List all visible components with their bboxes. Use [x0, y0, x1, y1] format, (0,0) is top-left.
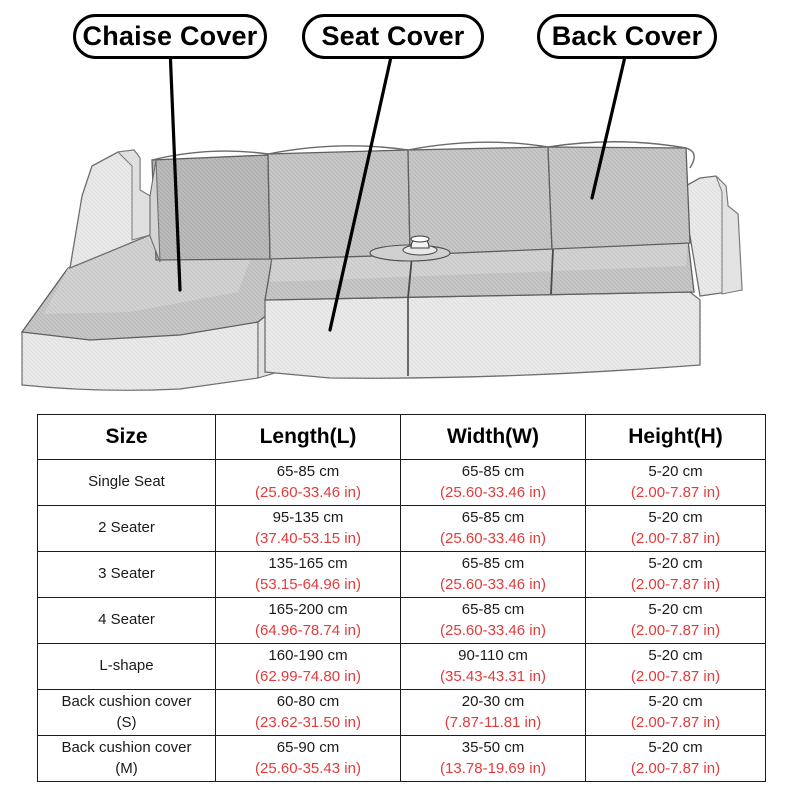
cell-height: 5-20 cm (2.00-7.87 in) — [586, 736, 766, 782]
value-cm: 65-85 cm — [216, 462, 400, 482]
cell-width: 35-50 cm (13.78-19.69 in) — [401, 736, 586, 782]
value-cm: 160-190 cm — [216, 646, 400, 666]
value-cm: 5-20 cm — [586, 646, 765, 666]
value-inch: (23.62-31.50 in) — [216, 713, 400, 733]
row-label-text: Single Seat — [88, 473, 165, 490]
row-label: 3 Seater — [38, 552, 216, 598]
value-inch: (2.00-7.87 in) — [586, 713, 765, 733]
value-cm: 5-20 cm — [586, 462, 765, 482]
size-chart: Size Length(L) Width(W) Height(H) Single… — [37, 414, 765, 782]
table-row: L-shape 160-190 cm (62.99-74.80 in) 90-1… — [38, 644, 766, 690]
value-inch: (37.40-53.15 in) — [216, 529, 400, 549]
size-table-body: Single Seat 65-85 cm (25.60-33.46 in) 65… — [38, 460, 766, 782]
value-inch: (25.60-33.46 in) — [401, 575, 585, 595]
sofa-base — [265, 292, 700, 378]
back-cushion-3 — [408, 147, 552, 255]
row-label-sub: (S) — [38, 713, 215, 733]
row-label: L-shape — [38, 644, 216, 690]
cell-height: 5-20 cm (2.00-7.87 in) — [586, 552, 766, 598]
row-label-text: L-shape — [99, 657, 153, 674]
table-row: Back cushion cover (M) 65-90 cm (25.60-3… — [38, 736, 766, 782]
table-row: 3 Seater 135-165 cm (53.15-64.96 in) 65-… — [38, 552, 766, 598]
size-table-head: Size Length(L) Width(W) Height(H) — [38, 415, 766, 460]
cell-width: 65-85 cm (25.60-33.46 in) — [401, 460, 586, 506]
value-cm: 95-135 cm — [216, 508, 400, 528]
row-label-text: 4 Seater — [98, 611, 155, 628]
row-label: Single Seat — [38, 460, 216, 506]
row-label: Back cushion cover (S) — [38, 690, 216, 736]
back-cushion-1 — [152, 155, 270, 260]
callout-back-cover-label: Back Cover — [552, 21, 703, 52]
table-row: Back cushion cover (S) 60-80 cm (23.62-3… — [38, 690, 766, 736]
cell-length: 95-135 cm (37.40-53.15 in) — [216, 506, 401, 552]
row-label: 2 Seater — [38, 506, 216, 552]
cell-length: 60-80 cm (23.62-31.50 in) — [216, 690, 401, 736]
value-inch: (2.00-7.87 in) — [586, 483, 765, 503]
cup-rim-icon — [411, 236, 429, 242]
table-row: Single Seat 65-85 cm (25.60-33.46 in) 65… — [38, 460, 766, 506]
value-cm: 5-20 cm — [586, 692, 765, 712]
cell-length: 165-200 cm (64.96-78.74 in) — [216, 598, 401, 644]
value-inch: (25.60-33.46 in) — [401, 483, 585, 503]
cell-width: 65-85 cm (25.60-33.46 in) — [401, 552, 586, 598]
value-inch: (13.78-19.69 in) — [401, 759, 585, 779]
callout-back-cover: Back Cover — [537, 14, 717, 59]
value-inch: (2.00-7.87 in) — [586, 529, 765, 549]
value-cm: 20-30 cm — [401, 692, 585, 712]
row-label-text: 3 Seater — [98, 565, 155, 582]
row-label-text: Back cushion cover — [61, 693, 191, 710]
value-cm: 65-85 cm — [401, 600, 585, 620]
value-cm: 60-80 cm — [216, 692, 400, 712]
value-inch: (53.15-64.96 in) — [216, 575, 400, 595]
value-cm: 35-50 cm — [401, 738, 585, 758]
column-header-size: Size — [38, 415, 216, 460]
cell-height: 5-20 cm (2.00-7.87 in) — [586, 460, 766, 506]
value-inch: (25.60-33.46 in) — [401, 529, 585, 549]
back-cushion-2 — [268, 150, 410, 259]
cell-width: 65-85 cm (25.60-33.46 in) — [401, 598, 586, 644]
sofa-illustration-svg — [0, 0, 800, 410]
row-label-text: 2 Seater — [98, 519, 155, 536]
row-label: 4 Seater — [38, 598, 216, 644]
cell-width: 90-110 cm (35.43-43.31 in) — [401, 644, 586, 690]
value-cm: 5-20 cm — [586, 738, 765, 758]
cell-height: 5-20 cm (2.00-7.87 in) — [586, 506, 766, 552]
row-label: Back cushion cover (M) — [38, 736, 216, 782]
value-cm: 5-20 cm — [586, 508, 765, 528]
value-inch: (2.00-7.87 in) — [586, 575, 765, 595]
value-cm: 65-90 cm — [216, 738, 400, 758]
value-inch: (2.00-7.87 in) — [586, 621, 765, 641]
callout-chaise-cover-label: Chaise Cover — [83, 21, 258, 52]
cell-length: 135-165 cm (53.15-64.96 in) — [216, 552, 401, 598]
value-inch: (2.00-7.87 in) — [586, 759, 765, 779]
value-cm: 65-85 cm — [401, 554, 585, 574]
value-cm: 135-165 cm — [216, 554, 400, 574]
value-inch: (2.00-7.87 in) — [586, 667, 765, 687]
value-cm: 90-110 cm — [401, 646, 585, 666]
value-inch: (25.60-33.46 in) — [216, 483, 400, 503]
row-label-text: Back cushion cover — [61, 739, 191, 756]
table-header-row: Size Length(L) Width(W) Height(H) — [38, 415, 766, 460]
cell-width: 20-30 cm (7.87-11.81 in) — [401, 690, 586, 736]
back-cushion-4 — [548, 147, 690, 249]
value-inch: (62.99-74.80 in) — [216, 667, 400, 687]
callout-seat-cover: Seat Cover — [302, 14, 484, 59]
cell-height: 5-20 cm (2.00-7.87 in) — [586, 690, 766, 736]
column-header-length: Length(L) — [216, 415, 401, 460]
cell-length: 65-85 cm (25.60-33.46 in) — [216, 460, 401, 506]
callout-chaise-cover: Chaise Cover — [73, 14, 267, 59]
cell-height: 5-20 cm (2.00-7.87 in) — [586, 644, 766, 690]
value-cm: 165-200 cm — [216, 600, 400, 620]
column-header-height: Height(H) — [586, 415, 766, 460]
value-cm: 5-20 cm — [586, 600, 765, 620]
row-label-sub: (M) — [38, 759, 215, 779]
cell-width: 65-85 cm (25.60-33.46 in) — [401, 506, 586, 552]
value-inch: (7.87-11.81 in) — [401, 713, 585, 733]
cell-length: 65-90 cm (25.60-35.43 in) — [216, 736, 401, 782]
value-cm: 65-85 cm — [401, 508, 585, 528]
sofa-illustration — [0, 0, 800, 410]
callout-seat-cover-label: Seat Cover — [321, 21, 464, 52]
value-inch: (35.43-43.31 in) — [401, 667, 585, 687]
value-inch: (64.96-78.74 in) — [216, 621, 400, 641]
cell-length: 160-190 cm (62.99-74.80 in) — [216, 644, 401, 690]
value-cm: 5-20 cm — [586, 554, 765, 574]
column-header-width: Width(W) — [401, 415, 586, 460]
table-row: 4 Seater 165-200 cm (64.96-78.74 in) 65-… — [38, 598, 766, 644]
cell-height: 5-20 cm (2.00-7.87 in) — [586, 598, 766, 644]
value-inch: (25.60-35.43 in) — [216, 759, 400, 779]
size-table: Size Length(L) Width(W) Height(H) Single… — [37, 414, 766, 782]
value-inch: (25.60-33.46 in) — [401, 621, 585, 641]
table-row: 2 Seater 95-135 cm (37.40-53.15 in) 65-8… — [38, 506, 766, 552]
value-cm: 65-85 cm — [401, 462, 585, 482]
